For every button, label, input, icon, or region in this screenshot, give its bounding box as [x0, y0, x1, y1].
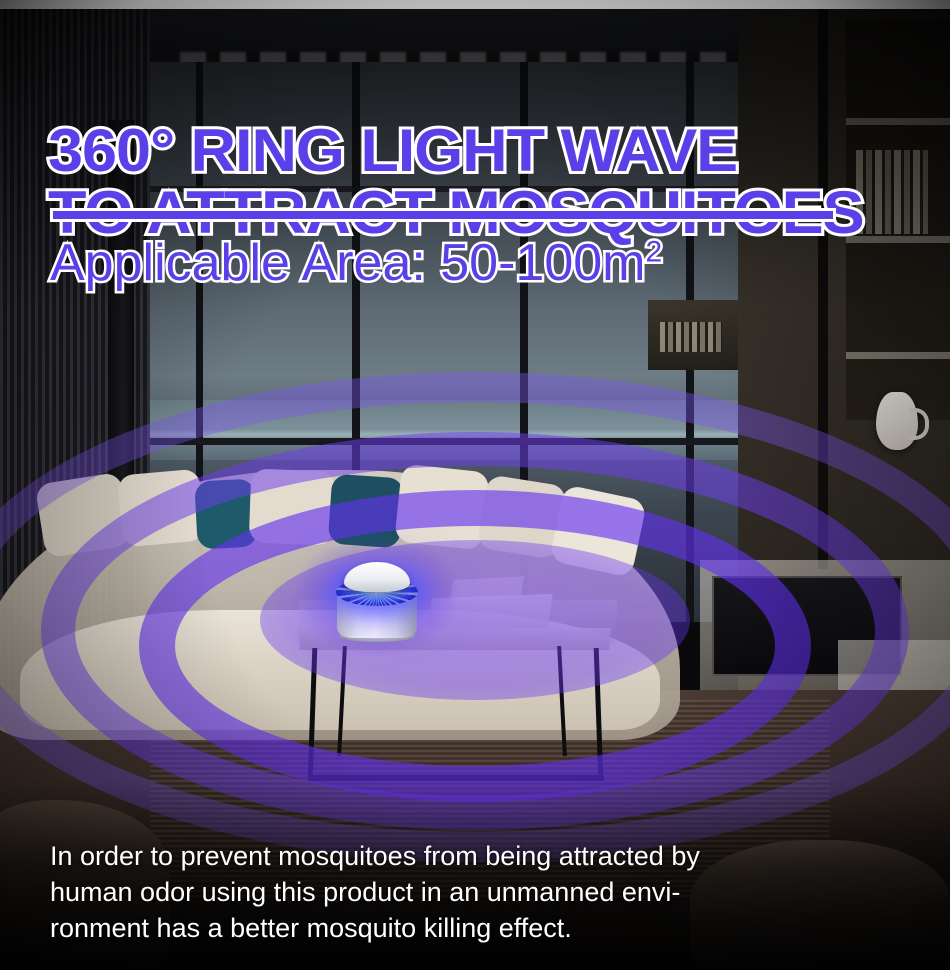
papers	[427, 594, 552, 632]
cushion	[249, 469, 336, 546]
cushion	[194, 478, 257, 549]
divider	[50, 208, 836, 222]
description-caption: In order to prevent mosquitoes from bein…	[50, 838, 920, 946]
applicable-area-subtitle: Applicable Area: 50-100m2	[50, 232, 910, 294]
shelf	[846, 352, 950, 359]
balcony-rail	[140, 438, 740, 445]
cushion	[117, 469, 205, 548]
cushion	[394, 464, 490, 551]
subline-superscript: 2	[646, 236, 663, 269]
sea-view	[140, 400, 740, 460]
cushion	[328, 474, 405, 549]
top-white-strip	[0, 0, 950, 9]
horizon-line	[140, 432, 740, 437]
niche-books	[660, 322, 722, 352]
ceramic-pitcher	[876, 392, 918, 450]
mosquito-killer-lamp	[331, 556, 423, 642]
lamp-cap	[344, 562, 410, 592]
cushion	[35, 472, 132, 559]
table-stretcher	[308, 775, 604, 781]
headline-line-1: 360° RING LIGHT WAVE	[48, 117, 737, 184]
product-marketing-banner: 360° RING LIGHT WAVE TO ATTRACT MOSQUITO…	[0, 0, 950, 970]
subline-text: Applicable Area: 50-100m	[50, 234, 646, 292]
